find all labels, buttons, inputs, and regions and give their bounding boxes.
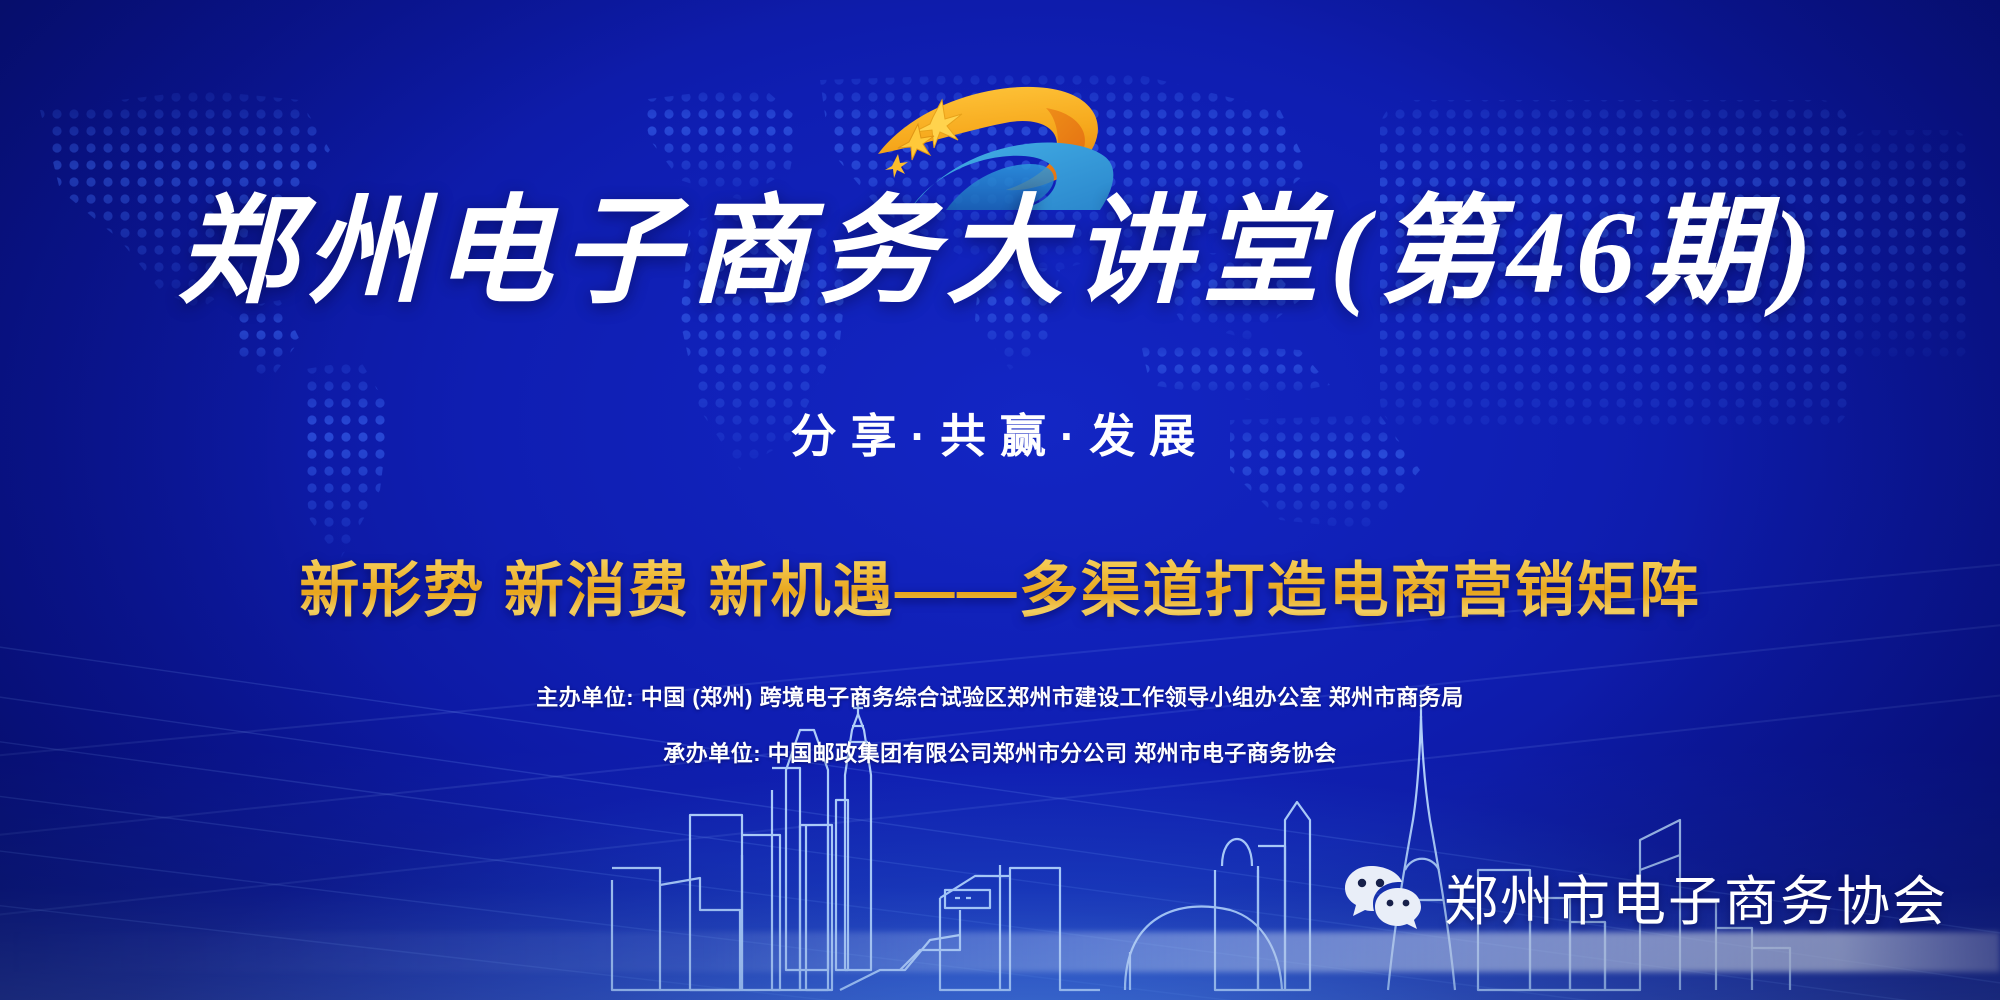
page-title: 郑州电子商务大讲堂(第46期) bbox=[0, 194, 2000, 312]
bottom-glow bbox=[0, 580, 2000, 1000]
subtitle: 分享·共赢·发展 bbox=[0, 400, 2000, 466]
ground-light bbox=[0, 932, 2000, 972]
headline-topic: 新形势 新消费 新机遇——多渠道打造电商营销矩阵 bbox=[0, 542, 2000, 629]
zhengzhou-city-skyline bbox=[0, 670, 2000, 1000]
wechat-icon bbox=[1344, 864, 1422, 930]
wechat-account-footer: 郑州市电子商务协会 bbox=[1344, 857, 1948, 936]
wechat-account-name: 郑州市电子商务协会 bbox=[1444, 857, 1948, 936]
logo-star-small bbox=[885, 154, 908, 178]
event-poster: 郑州电子商务大讲堂(第46期) 分享·共赢·发展 新形势 新消费 新机遇——多渠… bbox=[0, 0, 2000, 1000]
coorganizer-line: 承办单位: 中国邮政集团有限公司郑州市分公司 郑州市电子商务协会 bbox=[0, 736, 2000, 768]
organizer-line: 主办单位: 中国 (郑州) 跨境电子商务综合试验区郑州市建设工作领导小组办公室 … bbox=[0, 680, 2000, 712]
